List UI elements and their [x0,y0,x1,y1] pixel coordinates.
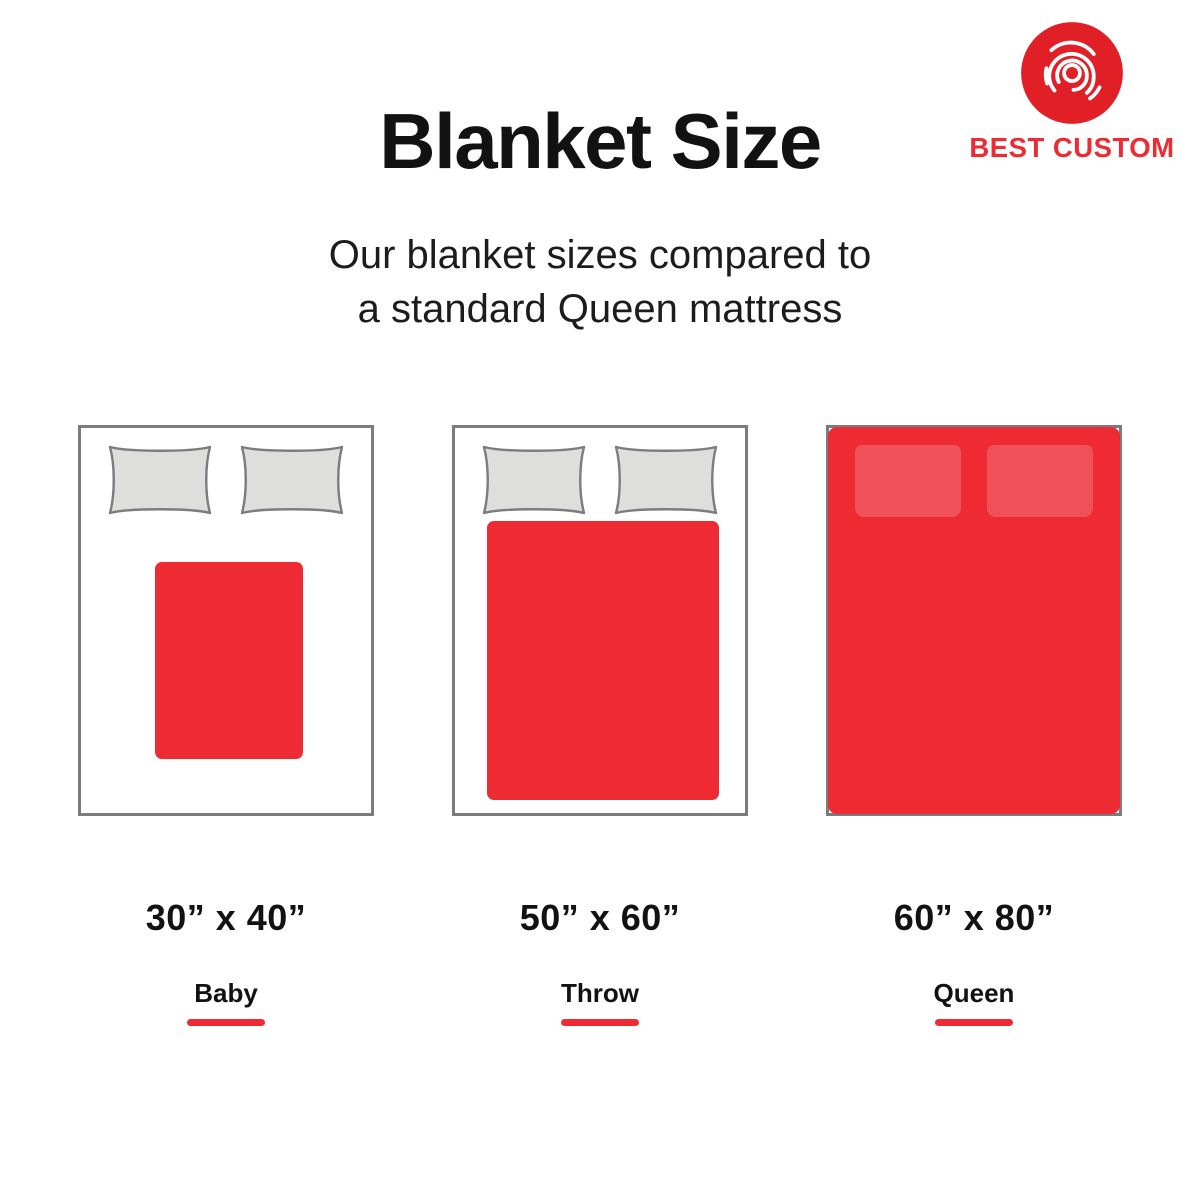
page-subtitle-line-2: a standard Queen mattress [0,282,1200,336]
bed-label-baby: 30” x 40” Baby [76,900,376,1026]
blanket-size-text: 30” x 40” [76,900,376,936]
blanket-name-text: Queen [824,980,1124,1006]
pillow-icon-right [613,443,719,517]
page-subtitle-line-1: Our blanket sizes compared to [0,228,1200,282]
pillow-icon-right [239,443,345,517]
blanket-swatch-throw [487,521,719,800]
bed-label-row: 30” x 40” Baby 50” x 60” Throw 60” x 80”… [0,900,1200,1040]
bed-diagram-throw [452,425,748,816]
pillow-icon-left [481,443,587,517]
bed-diagram-baby [78,425,374,816]
pillow-icon-left [107,443,213,517]
label-underline [561,1019,639,1026]
page-subtitle: Our blanket sizes compared to a standard… [0,228,1200,336]
pillow-icon-right [987,445,1093,517]
blanket-name-text: Baby [76,980,376,1006]
label-underline [935,1019,1013,1026]
blanket-size-text: 60” x 80” [824,900,1124,936]
page-title: Blanket Size [0,102,1200,180]
bed-label-throw: 50” x 60” Throw [450,900,750,1026]
label-underline [187,1019,265,1026]
bed-label-queen: 60” x 80” Queen [824,900,1124,1026]
pillow-icon-left [855,445,961,517]
bed-diagram-queen [826,425,1122,816]
blanket-size-text: 50” x 60” [450,900,750,936]
blanket-name-text: Throw [450,980,750,1006]
bed-comparison-row [0,425,1200,820]
blanket-swatch-baby [155,562,303,759]
